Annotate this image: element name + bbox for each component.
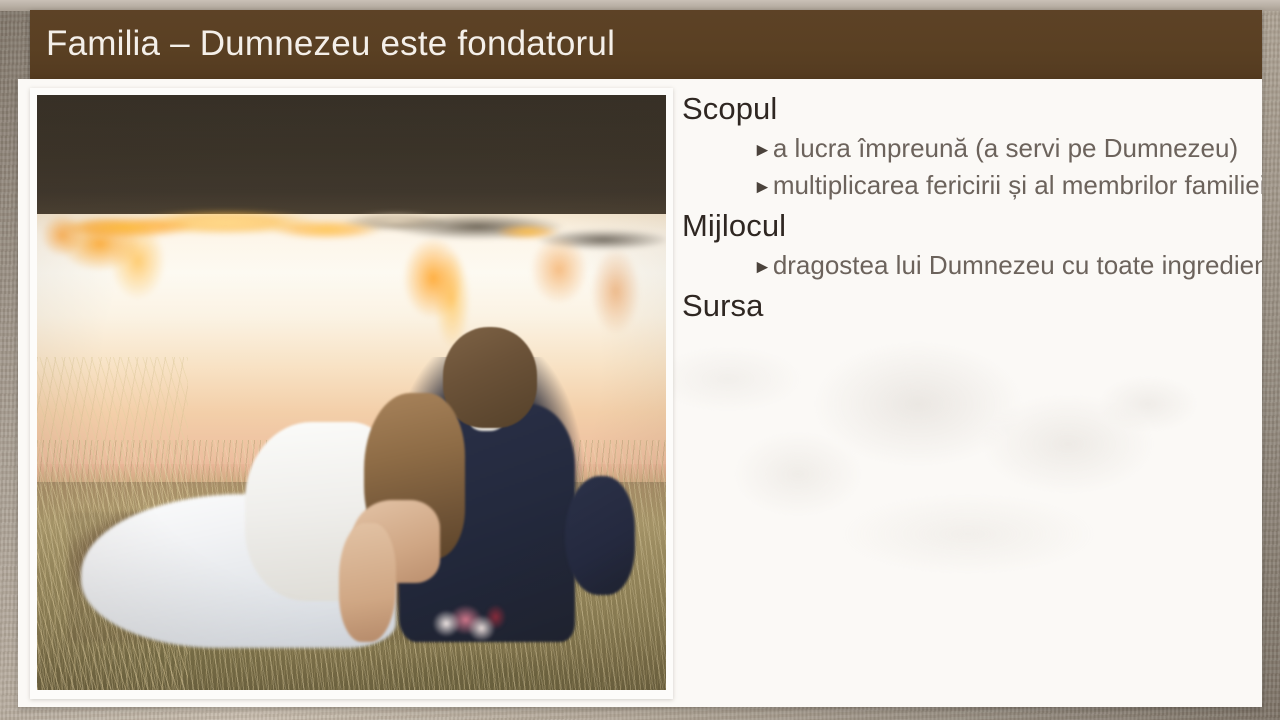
content-text-column: Scopul ► a lucra împreună (a servi pe Du… — [682, 88, 1258, 326]
wedding-couple-photo — [37, 95, 666, 690]
list-item: ► dragostea lui Dumnezeu cu toate ingred… — [753, 247, 1258, 285]
photo-groom-leg — [565, 476, 634, 595]
photo-grass-bank — [37, 464, 666, 690]
list-item-label: a lucra împreună (a servi pe Dumnezeu) — [773, 130, 1238, 168]
photo-lake-water — [37, 214, 666, 482]
list-item-label: multiplicarea fericirii și al membrilor … — [773, 167, 1262, 205]
list-item: ► a lucra împreună (a servi pe Dumnezeu) — [753, 130, 1258, 168]
slide-title: Familia – Dumnezeu este fondatorul — [46, 24, 615, 64]
photo-groom-collar — [471, 413, 502, 431]
photo-grass-left — [37, 357, 188, 690]
photo-bride-shoulder — [352, 500, 440, 583]
photo-sunset-reflection — [37, 214, 666, 428]
photo-grass-blades — [37, 440, 666, 690]
photo-treeline — [37, 95, 666, 220]
triangle-bullet-icon: ► — [753, 141, 772, 160]
section-heading-sursa: Sursa — [682, 285, 1258, 327]
photo-blanket — [68, 512, 458, 643]
photo-bouquet — [427, 601, 515, 649]
photo-groom-suit — [399, 404, 575, 642]
triangle-bullet-icon: ► — [753, 178, 772, 197]
slide-title-bar: Familia – Dumnezeu este fondatorul — [30, 10, 1262, 79]
list-item-label: dragostea lui Dumnezeu cu toate ingredie… — [773, 247, 1262, 285]
slide-canvas: Familia – Dumnezeu este fondatorul — [0, 0, 1280, 720]
photo-horizon-glow — [37, 190, 666, 261]
photo-groom-head — [443, 327, 537, 428]
photo-groom-shadow — [389, 357, 603, 655]
photo-vignette — [37, 95, 666, 690]
list-item: ► multiplicarea fericirii și al membrilo… — [753, 167, 1258, 205]
section-heading-mijlocul: Mijlocul — [682, 205, 1258, 247]
photo-haze — [37, 95, 666, 690]
background-watermark — [638, 284, 1262, 707]
section-heading-scopul: Scopul — [682, 88, 1258, 130]
triangle-bullet-icon: ► — [753, 258, 772, 277]
photo-bride-dress-bodice — [245, 422, 396, 601]
photo-bride-hair — [364, 393, 465, 560]
photo-bride-dress-train — [81, 494, 396, 649]
photo-bride-arm — [339, 523, 396, 642]
slide-body-card: Scopul ► a lucra împreună (a servi pe Du… — [18, 79, 1262, 707]
photo-frame — [30, 88, 673, 699]
